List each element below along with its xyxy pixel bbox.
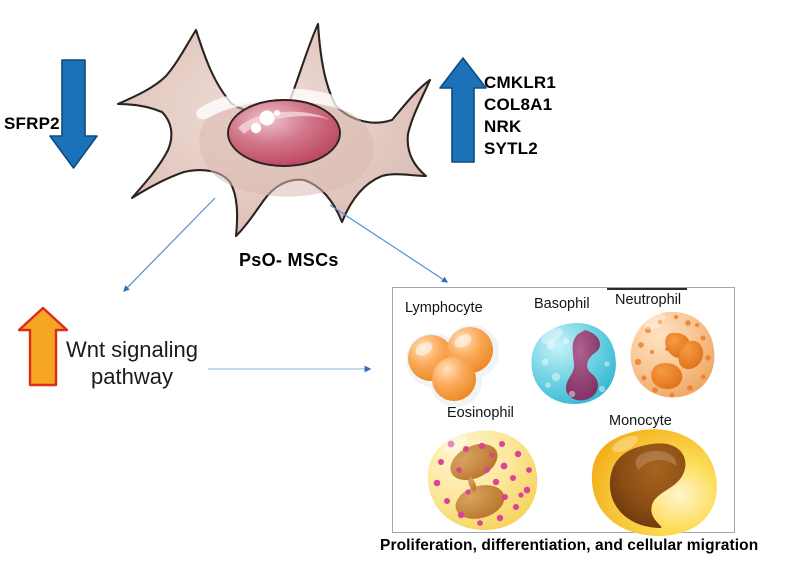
gene-item: SYTL2 — [484, 138, 556, 160]
monocyte-label: Monocyte — [609, 413, 672, 429]
up-arrow-icon — [440, 58, 486, 162]
wnt-pathway-label: Wnt signaling pathway — [52, 336, 212, 390]
connector-arrow-right — [330, 205, 447, 282]
wnt-label-line1: Wnt signaling — [52, 336, 212, 363]
msc-label: PsO- MSCs — [239, 250, 339, 271]
gene-item: NRK — [484, 116, 556, 138]
neutrophil-rule — [607, 288, 687, 290]
lymphocyte-label: Lymphocyte — [405, 300, 483, 316]
msc-cell-illustration — [118, 24, 430, 236]
eosinophil-label: Eosinophil — [447, 405, 514, 421]
upregulated-gene-list: CMKLR1 COL8A1 NRK SYTL2 — [484, 72, 556, 160]
gene-item: CMKLR1 — [484, 72, 556, 94]
figure-canvas: SFRP2 CMKLR1 COL8A1 NRK SYTL2 PsO- MSCs … — [0, 0, 787, 566]
figure-caption: Proliferation, differentiation, and cell… — [380, 537, 758, 555]
sfrp2-label: SFRP2 — [4, 114, 60, 134]
neutrophil-label: Neutrophil — [615, 292, 681, 308]
wnt-label-line2: pathway — [52, 363, 212, 390]
connector-arrow-left — [124, 198, 215, 291]
blood-cell-panel — [392, 287, 735, 533]
basophil-label: Basophil — [534, 296, 590, 312]
gene-item: COL8A1 — [484, 94, 556, 116]
msc-nucleus — [228, 100, 340, 166]
